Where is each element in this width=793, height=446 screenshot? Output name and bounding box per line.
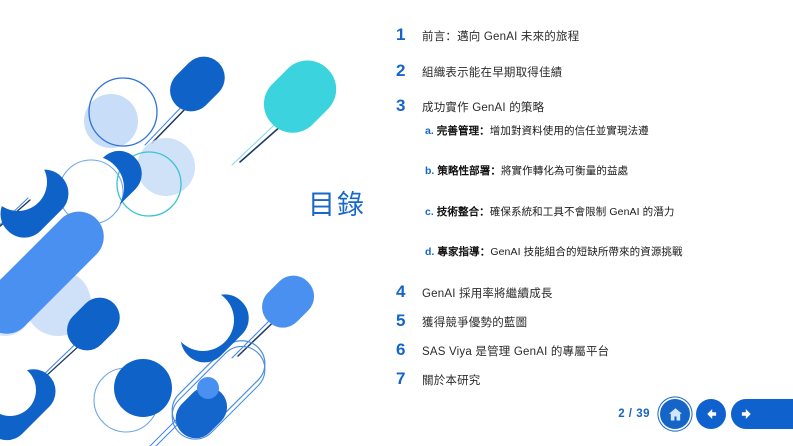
- subitem-body: GenAI 技能組合的短缺所帶來的資源挑戰: [490, 246, 682, 258]
- subitem-heading: 技術整合：: [437, 206, 490, 218]
- page-indicator: 2 / 39: [618, 408, 650, 420]
- agenda-label: 獲得競爭優勢的藍圖: [422, 316, 527, 330]
- agenda-number: 5: [396, 312, 422, 329]
- home-button[interactable]: [660, 399, 690, 429]
- agenda-subitem-c[interactable]: c. 技術整合：確保系統和工具不會限制 GenAI 的潛力: [425, 206, 674, 219]
- agenda-label: 前言：邁向 GenAI 未來的旅程: [422, 30, 579, 44]
- slide-navigation: 2 / 39: [618, 394, 793, 434]
- subitem-body: 將實作轉化為可衡量的益處: [501, 165, 628, 177]
- agenda-number: 2: [396, 62, 422, 79]
- page-title: 目錄: [308, 192, 366, 219]
- arrow-left-icon: [702, 405, 720, 423]
- previous-slide-button[interactable]: [696, 399, 726, 429]
- agenda-item-6[interactable]: 6 SAS Viya 是管理 GenAI 的專屬平台: [396, 341, 609, 359]
- agenda-label: 關於本研究: [422, 374, 481, 388]
- agenda-subitem-d[interactable]: d. 專家指導：GenAI 技能組合的短缺所帶來的資源挑戰: [425, 246, 683, 259]
- agenda-number: 7: [396, 370, 422, 387]
- decorative-artwork: [0, 0, 340, 446]
- subitem-body: 增加對資料使用的信任並實現法遵: [490, 125, 649, 137]
- subitem-label: 策略性部署：將實作轉化為可衡量的益處: [437, 165, 628, 178]
- agenda-item-1[interactable]: 1 前言：邁向 GenAI 未來的旅程: [396, 26, 579, 44]
- agenda-label: GenAI 採用率將繼續成長: [422, 287, 553, 301]
- agenda-subitem-a[interactable]: a. 完善管理：增加對資料使用的信任並實現法遵: [425, 125, 649, 138]
- home-icon: [667, 406, 684, 423]
- slide-canvas: 目錄 1 前言：邁向 GenAI 未來的旅程 2 組織表示能在早期取得佳績 3 …: [0, 0, 793, 446]
- agenda-number: 1: [396, 26, 422, 43]
- agenda-number: 3: [396, 97, 422, 114]
- next-slide-button[interactable]: [731, 399, 793, 429]
- agenda-item-3[interactable]: 3 成功實作 GenAI 的策略: [396, 97, 544, 115]
- agenda-item-4[interactable]: 4 GenAI 採用率將繼續成長: [396, 283, 553, 301]
- agenda-label: SAS Viya 是管理 GenAI 的專屬平台: [422, 345, 609, 359]
- agenda-item-5[interactable]: 5 獲得競爭優勢的藍圖: [396, 312, 527, 330]
- subitem-heading: 策略性部署：: [437, 165, 501, 177]
- subitem-label: 技術整合：確保系統和工具不會限制 GenAI 的潛力: [437, 206, 675, 219]
- agenda-label: 組織表示能在早期取得佳績: [422, 66, 562, 80]
- subitem-heading: 完善管理：: [437, 125, 490, 137]
- subitem-label: 專家指導：GenAI 技能組合的短缺所帶來的資源挑戰: [437, 246, 682, 259]
- subitem-letter: a.: [425, 126, 434, 137]
- agenda-item-2[interactable]: 2 組織表示能在早期取得佳績: [396, 62, 562, 80]
- agenda-number: 6: [396, 341, 422, 358]
- subitem-letter: b.: [425, 166, 434, 177]
- subitem-body: 確保系統和工具不會限制 GenAI 的潛力: [490, 206, 675, 218]
- agenda-number: 4: [396, 283, 422, 300]
- subitem-label: 完善管理：增加對資料使用的信任並實現法遵: [437, 125, 649, 138]
- subitem-letter: c.: [425, 207, 434, 218]
- agenda-item-7[interactable]: 7 關於本研究: [396, 370, 481, 388]
- subitem-letter: d.: [425, 247, 434, 258]
- arrow-right-icon: [738, 405, 756, 423]
- agenda-subitem-b[interactable]: b. 策略性部署：將實作轉化為可衡量的益處: [425, 165, 628, 178]
- subitem-heading: 專家指導：: [437, 246, 490, 258]
- agenda-label: 成功實作 GenAI 的策略: [422, 101, 544, 115]
